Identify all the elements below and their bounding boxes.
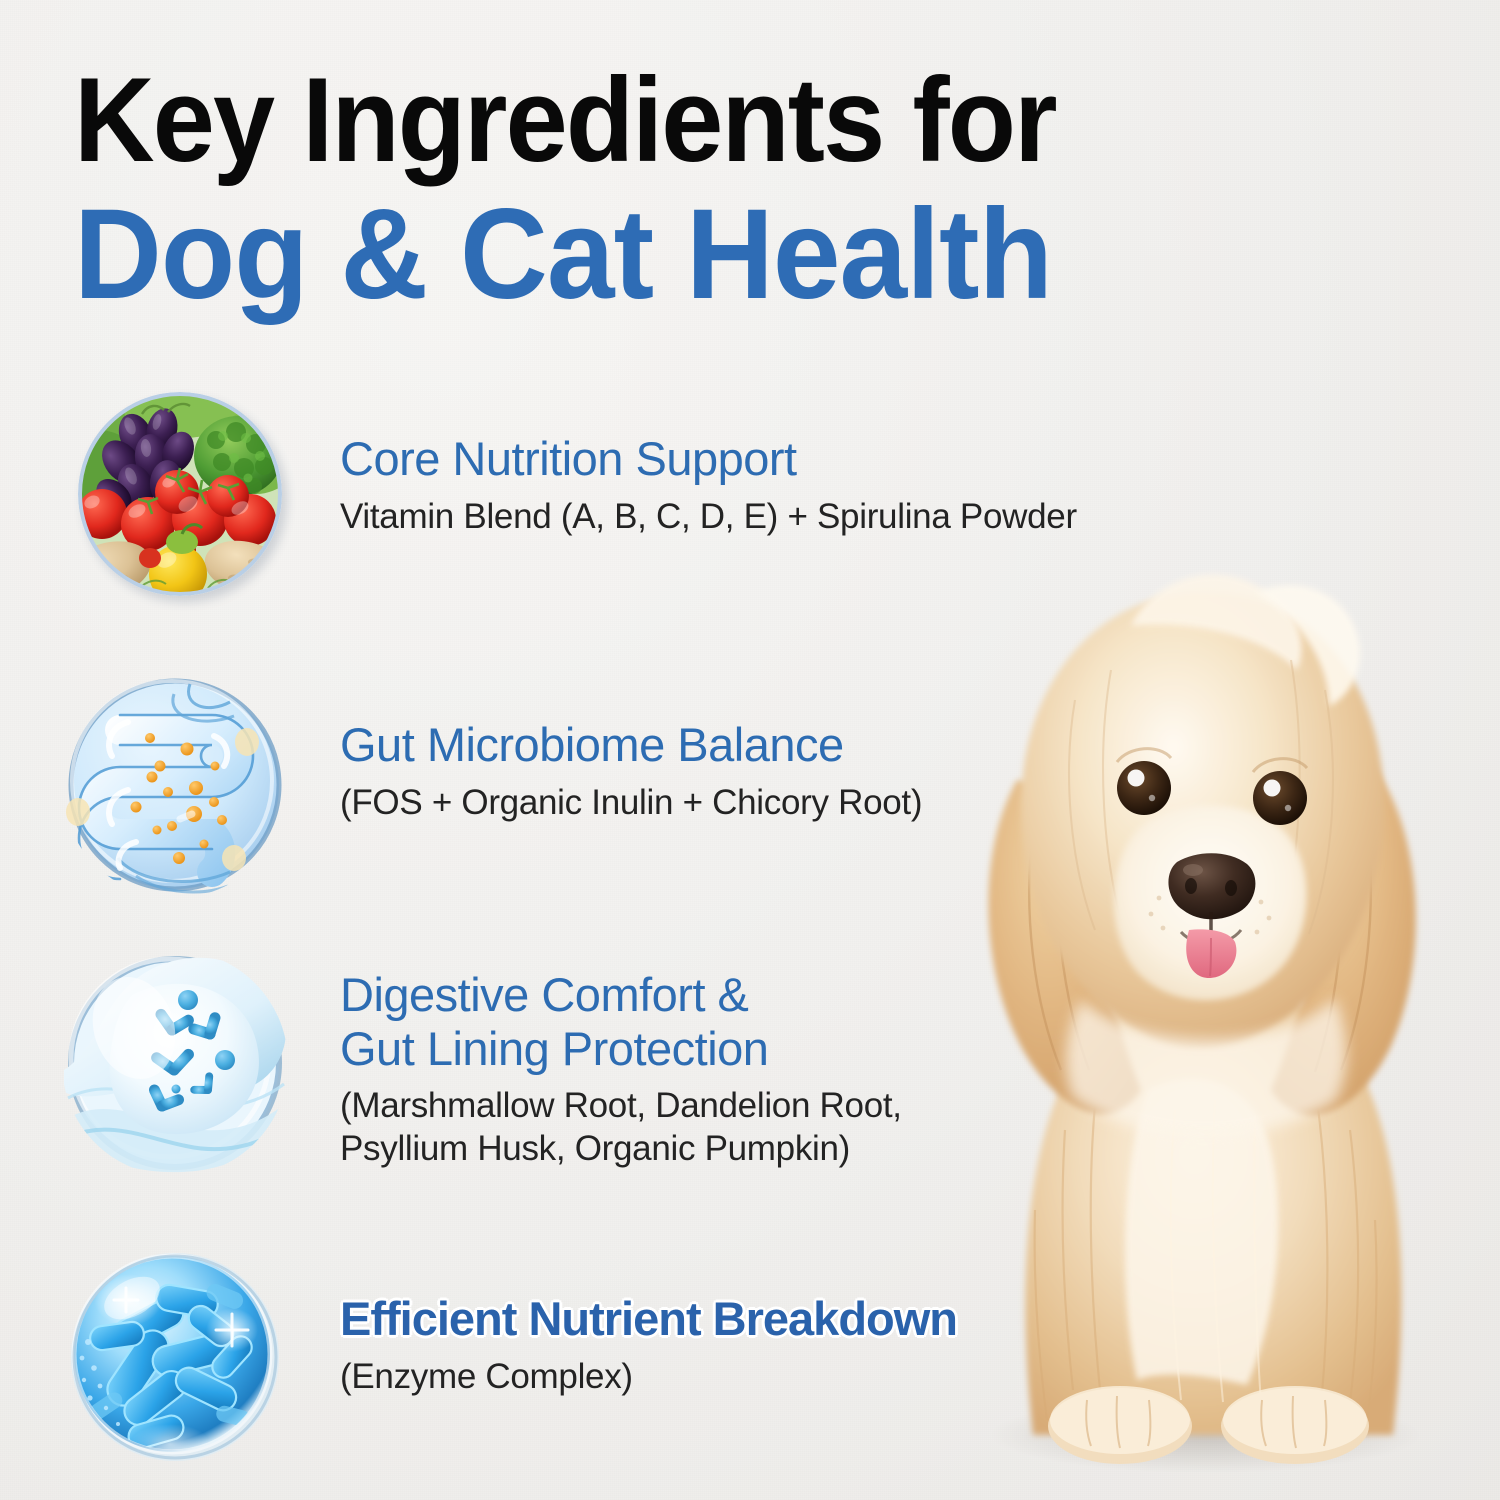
headline-line-1: Key Ingredients for [74,58,1320,183]
infographic-canvas: Key Ingredients for Dog & Cat Health [0,0,1500,1500]
feature-subtitle: Vitamin Blend (A, B, C, D, E) + Spirulin… [340,496,1077,539]
feature-heading: Core Nutrition Support [340,432,1077,486]
intestine-icon [62,672,288,898]
feature-heading-line-1: Digestive Comfort & [340,968,902,1022]
feature-heading: Gut Microbiome Balance [340,718,922,772]
puppy-photo [905,530,1500,1480]
vegetables-photo-icon [78,392,282,596]
feature-heading: Efficient Nutrient Breakdown [340,1292,957,1346]
feature-subtitle: (Enzyme Complex) [340,1356,957,1399]
feature-subtitle: (FOS + Organic Inulin + Chicory Root) [340,782,922,825]
feature-subtitle: (Marshmallow Root, Dandelion Root, Psyll… [340,1085,902,1170]
page-title: Key Ingredients for Dog & Cat Health [74,58,1414,322]
headline-line-2: Dog & Cat Health [74,187,1347,323]
stomach-lining-icon [62,950,288,1176]
feature-heading-line-2: Gut Lining Protection [340,1022,902,1076]
probiotic-bacteria-icon [66,1248,284,1466]
